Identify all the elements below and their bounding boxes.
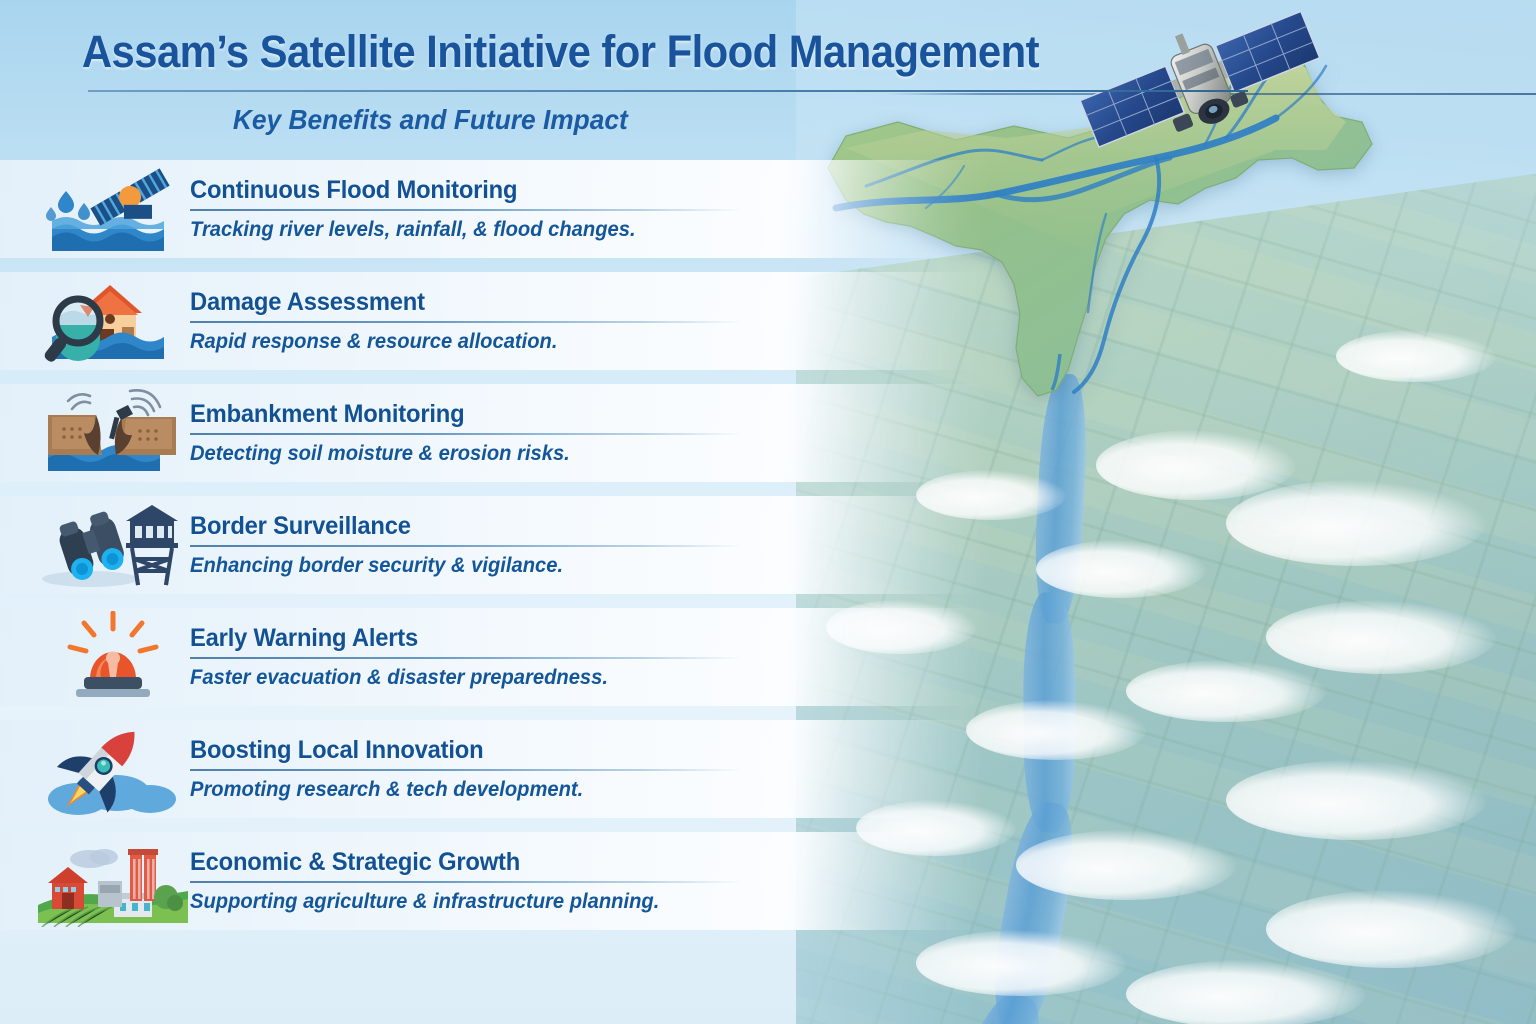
benefit-heading: Economic & Strategic Growth — [190, 848, 960, 877]
page-subtitle: Key Benefits and Future Impact — [23, 104, 754, 136]
binoculars-watchtower-icon — [38, 499, 188, 591]
benefit-description: Enhancing border security & vigilance. — [190, 554, 968, 578]
benefit-text: Embankment Monitoring Detecting soil moi… — [188, 400, 1000, 466]
benefit-text: Damage Assessment Rapid response & resou… — [188, 288, 1000, 354]
benefit-heading: Boosting Local Innovation — [190, 736, 960, 765]
benefit-heading: Damage Assessment — [190, 288, 960, 317]
list-item[interactable]: Continuous Flood Monitoring Tracking riv… — [0, 160, 1000, 258]
benefit-divider — [190, 881, 742, 883]
list-item[interactable]: Boosting Local Innovation Promoting rese… — [0, 720, 1000, 818]
benefit-divider — [190, 209, 742, 211]
list-item[interactable]: Early Warning Alerts Faster evacuation &… — [0, 608, 1000, 706]
rocket-launch-icon — [38, 723, 188, 815]
benefit-heading: Early Warning Alerts — [190, 624, 960, 653]
list-item[interactable]: Embankment Monitoring Detecting soil moi… — [0, 384, 1000, 482]
benefit-divider — [190, 657, 742, 659]
magnifier-flooded-house-icon — [38, 275, 188, 367]
benefit-description: Detecting soil moisture & erosion risks. — [190, 442, 968, 466]
infographic-poster: Assam’s Satellite Initiative for Flood M… — [0, 0, 1536, 1024]
benefit-heading: Continuous Flood Monitoring — [190, 176, 960, 205]
benefit-text: Boosting Local Innovation Promoting rese… — [188, 736, 1000, 802]
benefit-divider — [190, 769, 742, 771]
benefit-description: Faster evacuation & disaster preparednes… — [190, 666, 968, 690]
list-item[interactable]: Border Surveillance Enhancing border sec… — [0, 496, 1000, 594]
benefit-divider — [190, 545, 742, 547]
farm-factory-growth-icon — [38, 835, 188, 927]
benefit-heading: Embankment Monitoring — [190, 400, 960, 429]
benefits-list: Continuous Flood Monitoring Tracking riv… — [0, 160, 1000, 944]
siren-alert-icon — [38, 611, 188, 703]
title-divider — [88, 90, 1248, 92]
page-title: Assam’s Satellite Initiative for Flood M… — [0, 0, 893, 78]
earth-observation-satellite — [1076, 2, 1326, 162]
list-item[interactable]: Economic & Strategic Growth Supporting a… — [0, 832, 1000, 930]
list-item[interactable]: Damage Assessment Rapid response & resou… — [0, 272, 1000, 370]
benefit-description: Promoting research & tech development. — [190, 778, 968, 802]
benefit-description: Supporting agriculture & infrastructure … — [190, 890, 968, 914]
benefit-text: Border Surveillance Enhancing border sec… — [188, 512, 1000, 578]
benefit-text: Early Warning Alerts Faster evacuation &… — [188, 624, 1000, 690]
breached-embankment-sensor-icon — [38, 387, 188, 479]
benefit-description: Rapid response & resource allocation. — [190, 330, 968, 354]
benefit-divider — [190, 321, 742, 323]
benefit-divider — [190, 433, 742, 435]
benefit-description: Tracking river levels, rainfall, & flood… — [190, 218, 968, 242]
benefit-heading: Border Surveillance — [190, 512, 960, 541]
benefit-text: Continuous Flood Monitoring Tracking riv… — [188, 176, 1000, 242]
benefit-text: Economic & Strategic Growth Supporting a… — [188, 848, 1000, 914]
satellite-flood-monitoring-icon — [38, 163, 188, 255]
poster-header: Assam’s Satellite Initiative for Flood M… — [0, 0, 960, 136]
